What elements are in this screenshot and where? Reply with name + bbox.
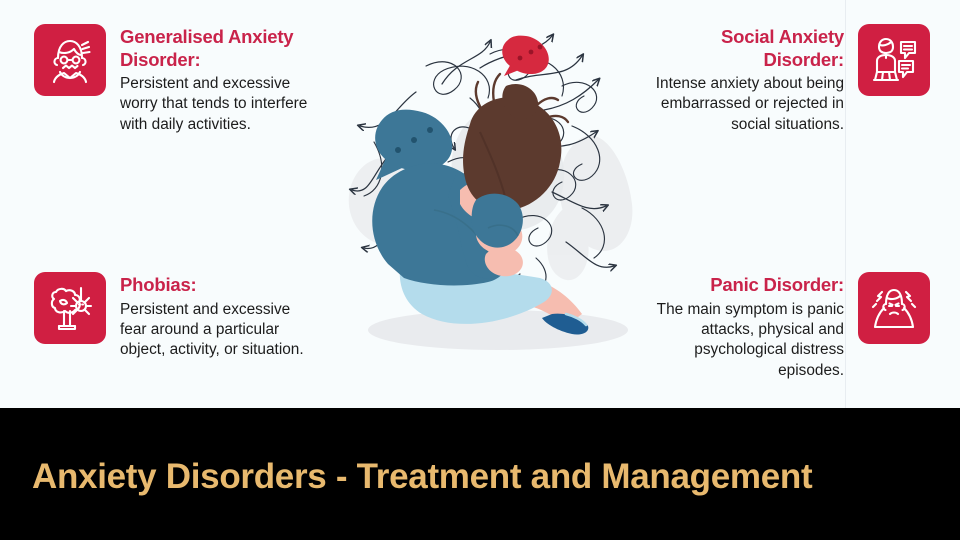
card-panic-disorder: Panic Disorder: The main symptom is pani… <box>652 272 930 381</box>
card-social-anxiety-disorder: Social Anxiety Disorder: Intense anxiety… <box>652 24 930 135</box>
card-phobias: Phobias: Persistent and excessive fear a… <box>34 272 312 361</box>
card-text-block: Generalised Anxiety Disorder: Persistent… <box>120 24 312 135</box>
card-description: The main symptom is panic attacks, physi… <box>652 300 844 381</box>
card-text-block: Social Anxiety Disorder: Intense anxiety… <box>652 24 844 135</box>
card-text-block: Panic Disorder: The main symptom is pani… <box>652 272 844 381</box>
card-description: Persistent and excessive fear around a p… <box>120 300 312 361</box>
card-title: Generalised Anxiety Disorder: <box>120 26 312 71</box>
card-text-block: Phobias: Persistent and excessive fear a… <box>120 272 312 361</box>
card-generalised-anxiety-disorder: Generalised Anxiety Disorder: Persistent… <box>34 24 312 135</box>
title-bar: Anxiety Disorders - Treatment and Manage… <box>0 408 960 540</box>
slide-root: Generalised Anxiety Disorder: Persistent… <box>0 0 960 540</box>
panic-head-lightning-icon <box>858 272 930 344</box>
slide-title: Anxiety Disorders - Treatment and Manage… <box>32 458 812 497</box>
card-title: Phobias: <box>120 274 312 297</box>
card-title: Social Anxiety Disorder: <box>652 26 844 71</box>
content-area: Generalised Anxiety Disorder: Persistent… <box>0 0 960 408</box>
person-speech-bubbles-icon <box>858 24 930 96</box>
card-description: Persistent and excessive worry that tend… <box>120 74 312 135</box>
anxious-person-tangled-thoughts-illustration <box>330 14 660 359</box>
card-title: Panic Disorder: <box>652 274 844 297</box>
card-description: Intense anxiety about being embarrassed … <box>652 74 844 135</box>
spider-tree-icon <box>34 272 106 344</box>
red-speech-bubble <box>502 36 549 76</box>
worried-face-icon <box>34 24 106 96</box>
